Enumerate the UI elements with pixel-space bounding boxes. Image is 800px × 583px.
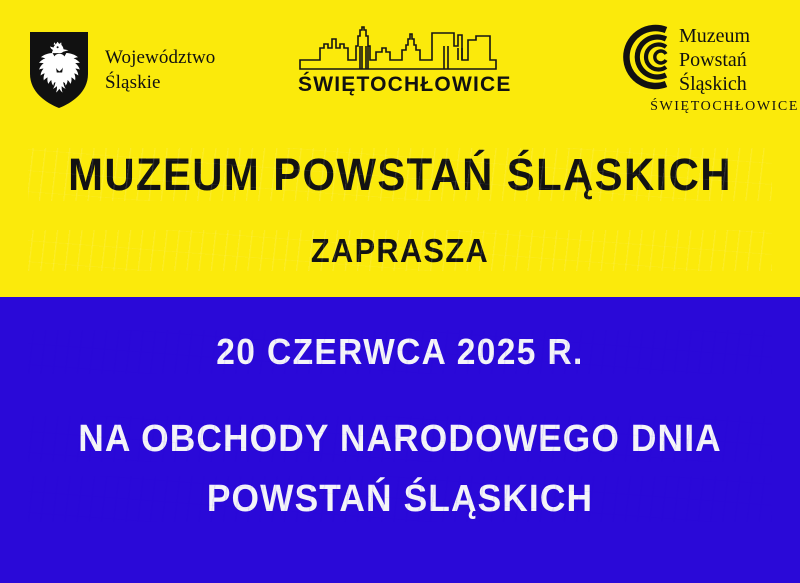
heading-date: 20 CZERWCA 2025 R. (28, 334, 772, 370)
museum-label-line2: Powstań (679, 48, 750, 72)
heading-title: MUZEUM POWSTAŃ ŚLĄSKICH (28, 152, 772, 197)
museum-label-line3: Śląskich (679, 72, 750, 96)
museum-arcs-icon (608, 24, 670, 90)
logo-row: Województwo Śląskie ŚWIĘTOCHŁOWICE (0, 0, 800, 135)
heading-invite: ZAPRASZA (28, 234, 772, 267)
museum-sublabel: ŚWIĘTOCHŁOWICE (609, 99, 799, 115)
heading-event-line1: NA OBCHODY NARODOWEGO DNIA (28, 420, 772, 458)
city-label: ŚWIĘTOCHŁOWICE (298, 73, 512, 97)
heading-event-line2: POWSTAŃ ŚLĄSKICH (28, 480, 772, 518)
silesian-eagle-shield-icon (28, 30, 90, 110)
museum-label: Muzeum Powstań Śląskich (679, 24, 750, 96)
logo-voivodeship: Województwo Śląskie (28, 30, 215, 110)
museum-logo-top: Muzeum Powstań Śląskich (608, 24, 799, 96)
poster: Województwo Śląskie ŚWIĘTOCHŁOWICE (0, 0, 800, 583)
voivodeship-label-line1: Województwo (105, 45, 215, 70)
voivodeship-label: Województwo Śląskie (105, 45, 215, 96)
city-skyline-icon (298, 26, 512, 70)
museum-label-line1: Muzeum (679, 24, 750, 48)
voivodeship-label-line2: Śląskie (105, 70, 215, 95)
logo-museum: Muzeum Powstań Śląskich ŚWIĘTOCHŁOWICE (608, 24, 799, 115)
logo-city: ŚWIĘTOCHŁOWICE (298, 26, 512, 97)
